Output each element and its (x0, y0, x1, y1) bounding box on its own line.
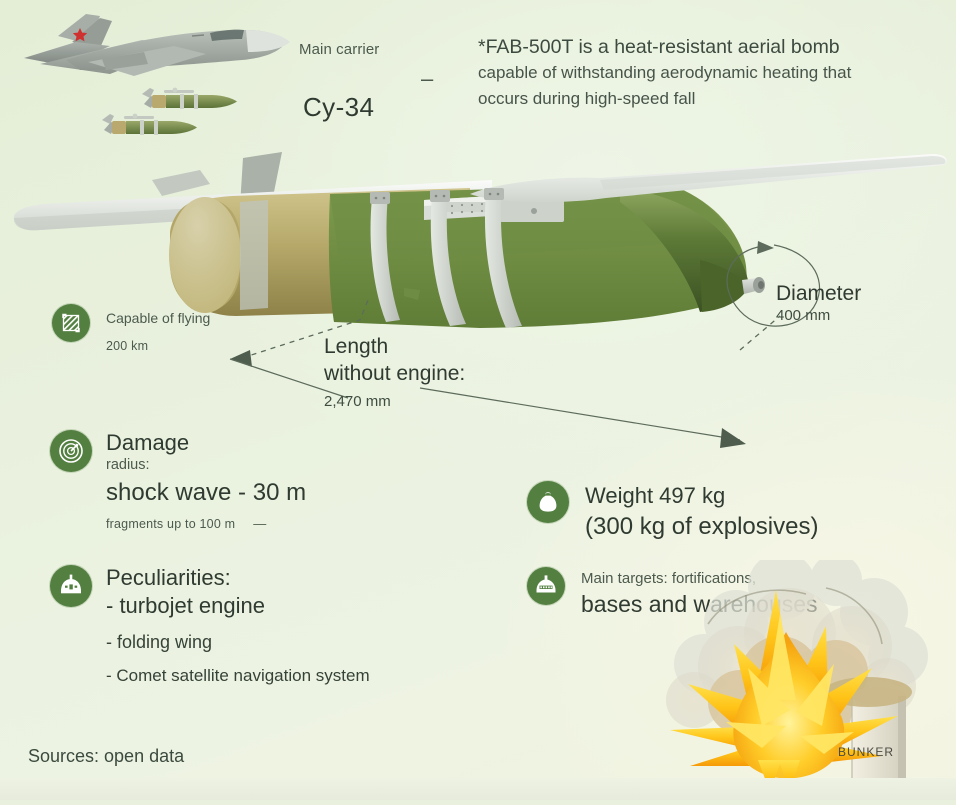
note-line-2: capable of withstanding aerodynamic heat… (478, 60, 908, 86)
sources-footer: Sources: open data (28, 746, 184, 767)
length-value: 2,470 mm (324, 393, 465, 410)
weight-line-1: Weight 497 kg (585, 483, 818, 509)
note-line-3: occurs during high-speed fall (478, 86, 908, 112)
su34-aircraft-illustration (14, 2, 314, 148)
spec-peculiarities: Peculiarities: - turbojet engine - foldi… (50, 565, 370, 686)
diameter-title: Diameter (776, 280, 861, 307)
diameter-callout: Diameter 400 mm (776, 280, 861, 324)
peculiarities-title: Peculiarities: (106, 565, 370, 591)
main-carrier-label-text: Main carrier (299, 41, 379, 58)
radar-target-icon (50, 430, 92, 472)
carrier-dash: – (421, 66, 433, 92)
peculiarities-item-0: - turbojet engine (106, 593, 370, 619)
main-carrier-name: Су-34 (303, 92, 374, 123)
weight-line-2: (300 kg of explosives) (585, 513, 818, 541)
range-hatched-square-icon (52, 304, 90, 342)
spec-range: Capable of flying 200 km (52, 304, 210, 353)
length-line-2: without engine: (324, 360, 465, 387)
peculiarities-item-1: - folding wing (106, 632, 370, 653)
main-carrier-name-text: Су-34 (303, 92, 374, 122)
kettlebell-weight-icon (527, 481, 569, 523)
damage-footnote-dash: — (253, 516, 266, 531)
note-lead: *FAB-500T is a heat-resistant aerial bom… (478, 34, 908, 60)
damage-footnote: fragments up to 100 m (106, 517, 235, 531)
fab500t-note: *FAB-500T is a heat-resistant aerial bom… (478, 34, 908, 112)
sources-text: Sources: open data (28, 746, 184, 766)
explosion-bunker-illustration: BUNKER (630, 560, 956, 800)
length-callout: Length without engine: 2,470 mm (324, 333, 465, 410)
length-line-1: Length (324, 333, 465, 360)
diameter-value: 400 mm (776, 307, 861, 324)
spec-weight: Weight 497 kg (300 kg of explosives) (527, 481, 818, 541)
bunker-dome-icon (50, 565, 92, 607)
damage-subtitle: radius: (106, 457, 306, 473)
damage-value: shock wave - 30 m (106, 479, 306, 507)
damage-title: Damage (106, 430, 306, 456)
main-carrier-label: Main carrier (299, 41, 379, 59)
infographic-canvas: Main carrier – Су-34 *FAB-500T is a heat… (0, 0, 956, 800)
range-title: Capable of flying (106, 310, 210, 326)
fortification-bunker-icon (527, 567, 565, 605)
range-value: 200 km (106, 339, 210, 353)
spec-damage: Damage radius: shock wave - 30 m fragmen… (50, 430, 306, 531)
peculiarities-item-2: - Comet satellite navigation system (106, 666, 370, 686)
